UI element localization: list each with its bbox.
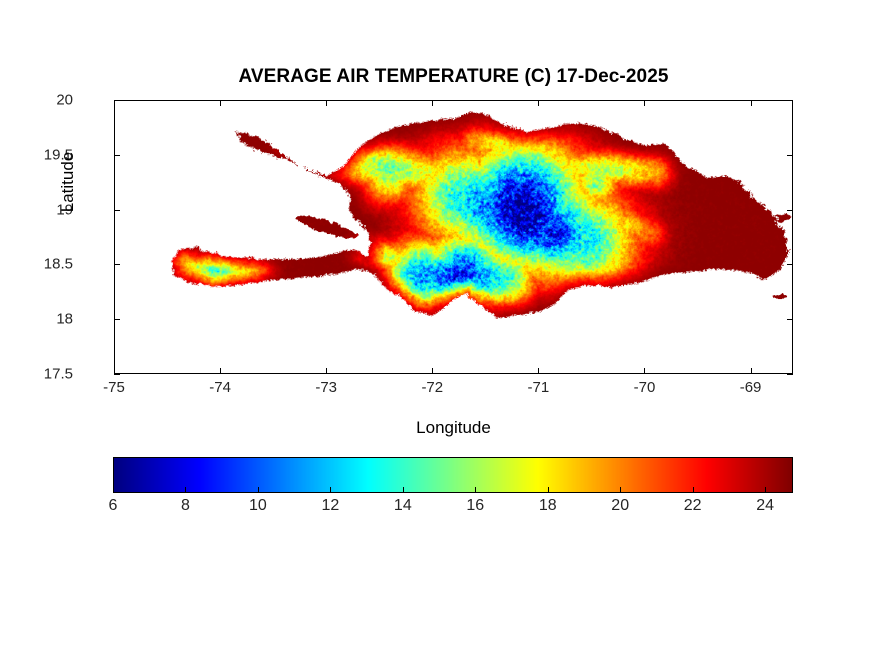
colorbar-tick-label: 14 (394, 497, 412, 515)
x-tick (644, 100, 645, 106)
map-axes[interactable] (114, 100, 793, 374)
colorbar-tick (258, 487, 259, 493)
colorbar[interactable] (113, 457, 793, 493)
colorbar-gradient (113, 457, 793, 493)
x-tick-label: -70 (634, 379, 656, 396)
y-tick (787, 374, 793, 375)
x-tick (326, 368, 327, 374)
colorbar-tick (765, 487, 766, 493)
y-tick (787, 100, 793, 101)
x-tick (432, 368, 433, 374)
y-tick (114, 210, 120, 211)
y-tick (787, 319, 793, 320)
colorbar-tick-label: 20 (611, 497, 629, 515)
colorbar-tick (548, 487, 549, 493)
y-tick (787, 210, 793, 211)
x-tick (220, 368, 221, 374)
y-tick (114, 264, 120, 265)
y-tick (114, 155, 120, 156)
colorbar-tick-label: 16 (466, 497, 484, 515)
x-axis-label: Longitude (114, 418, 793, 438)
colorbar-tick-label: 24 (756, 497, 774, 515)
x-tick (538, 100, 539, 106)
x-tick-label: -72 (421, 379, 443, 396)
colorbar-tick-label: 22 (684, 497, 702, 515)
colorbar-tick (403, 487, 404, 493)
colorbar-tick (620, 487, 621, 493)
x-tick-label: -71 (528, 379, 550, 396)
colorbar-tick (330, 487, 331, 493)
y-tick (787, 264, 793, 265)
y-axis-label: Latitude (58, 102, 78, 262)
x-tick (538, 368, 539, 374)
x-tick (751, 368, 752, 374)
y-tick (114, 374, 120, 375)
temperature-heatmap (115, 101, 792, 373)
x-tick (326, 100, 327, 106)
figure-canvas: AVERAGE AIR TEMPERATURE (C) 17-Dec-2025 … (0, 0, 875, 656)
y-tick-label: 18 (56, 311, 73, 328)
colorbar-tick (693, 487, 694, 493)
colorbar-tick-label: 8 (181, 497, 190, 515)
colorbar-tick-label: 10 (249, 497, 267, 515)
x-tick-label: -69 (740, 379, 762, 396)
y-tick-label: 17.5 (44, 366, 73, 383)
colorbar-tick-label: 12 (321, 497, 339, 515)
y-tick (114, 100, 120, 101)
x-tick (220, 100, 221, 106)
x-tick (432, 100, 433, 106)
colorbar-tick (185, 487, 186, 493)
x-tick-label: -74 (209, 379, 231, 396)
y-tick (114, 319, 120, 320)
colorbar-tick-label: 6 (109, 497, 118, 515)
x-tick-label: -73 (315, 379, 337, 396)
page-title: AVERAGE AIR TEMPERATURE (C) 17-Dec-2025 (114, 66, 793, 88)
colorbar-tick-label: 18 (539, 497, 557, 515)
x-tick-label: -75 (103, 379, 125, 396)
colorbar-tick (475, 487, 476, 493)
x-tick (644, 368, 645, 374)
y-tick (787, 155, 793, 156)
x-tick (751, 100, 752, 106)
colorbar-tick (113, 487, 114, 493)
